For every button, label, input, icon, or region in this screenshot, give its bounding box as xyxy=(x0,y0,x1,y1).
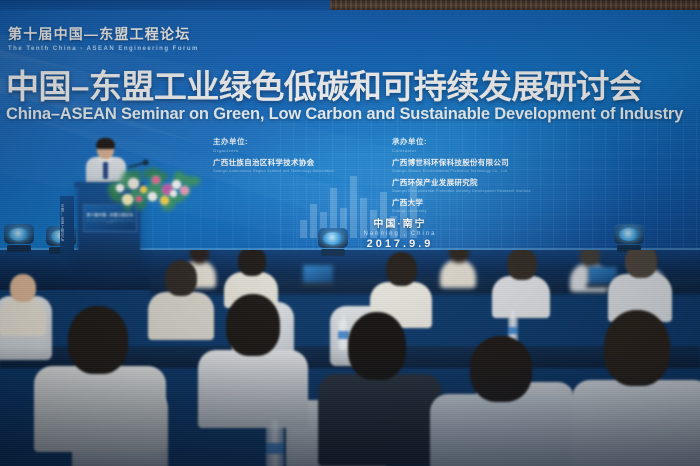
seminar-title-cn: 中国–东盟工业绿色低碳和可持续发展研讨会 xyxy=(6,70,700,103)
laptop xyxy=(300,264,334,288)
person-head xyxy=(348,312,406,380)
person-head xyxy=(580,250,600,267)
organizers-heading-cn: 主办单位: xyxy=(213,136,334,147)
seminar-title-en: China–ASEAN Seminar on Green, Low Carbon… xyxy=(6,105,700,124)
audience-person xyxy=(440,250,476,288)
co-organizer-name-en: Guangxi Environmental Protection Industr… xyxy=(392,189,531,193)
person-head xyxy=(507,250,537,280)
person-body xyxy=(492,276,550,318)
speaker-hair xyxy=(96,138,115,149)
place-date-block: 中国·南宁 Nanning , China 2017.9.9 xyxy=(345,215,455,250)
water-bottle xyxy=(266,426,284,466)
forum-title-cn: 第十届中国—东盟工程论坛 xyxy=(8,24,199,44)
co-organizer-name-en: Guangxi University xyxy=(392,209,531,213)
organizers-block: 主办单位: Organizers 广西壮族自治区科学技术协会 Guangxi A… xyxy=(213,136,334,173)
person-body xyxy=(198,350,308,428)
co-organizer-name-cn: 广西博世科环保科技股份有限公司 xyxy=(392,157,531,168)
forum-header: 第十届中国—东盟工程论坛 The Tenth China - ASEAN Eng… xyxy=(8,24,199,52)
person-head xyxy=(604,310,670,386)
person-body xyxy=(34,366,166,452)
person-head xyxy=(226,294,280,356)
side-banner-text: 中国—东盟工程论坛 xyxy=(60,204,65,242)
podium-flowers xyxy=(110,172,186,212)
co-organizer-item: 广西环保产业发展研究院 Guangxi Environmental Protec… xyxy=(392,177,531,193)
audience-person xyxy=(198,294,308,424)
podium-sign-en: The Tenth China - ASEAN Engineering Foru… xyxy=(84,220,136,224)
person-body xyxy=(572,380,700,466)
stage-light-icon xyxy=(614,222,644,252)
organizers-heading-en: Organizers xyxy=(213,148,334,153)
person-body xyxy=(440,259,476,288)
co-organizer-name-en: Guangxi Bossco Environmental Protection … xyxy=(392,169,531,173)
co-organizers-block: 承办单位: Contractor 广西博世科环保科技股份有限公司 Guangxi… xyxy=(392,136,531,213)
person-head xyxy=(386,252,417,286)
place-en: Nanning , China xyxy=(345,231,455,237)
person-body xyxy=(430,394,580,466)
person-head xyxy=(68,306,128,374)
podium-sign-cn: 第十届中国—东盟工程论坛 xyxy=(84,213,136,218)
person-head xyxy=(165,260,197,296)
person-head xyxy=(238,250,266,276)
conference-photo-scene: 第十届中国—东盟工程论坛 The Tenth China - ASEAN Eng… xyxy=(0,0,700,466)
audience-person xyxy=(430,336,580,466)
person-head xyxy=(625,250,657,278)
audience-person xyxy=(572,310,700,466)
audience-person xyxy=(318,312,442,462)
co-organizers-heading-cn: 承办单位: xyxy=(392,136,531,147)
co-organizer-item: 广西博世科环保科技股份有限公司 Guangxi Bossco Environme… xyxy=(392,157,531,173)
audience-area xyxy=(0,250,700,466)
laptop-keyboard xyxy=(300,283,334,287)
person-head xyxy=(10,274,36,302)
co-organizer-name-cn: 广西大学 xyxy=(392,197,531,208)
person-body xyxy=(318,374,442,466)
co-organizer-name-cn: 广西环保产业发展研究院 xyxy=(392,177,531,188)
person-head xyxy=(470,336,532,402)
co-organizer-item: 广西大学 Guangxi University xyxy=(392,197,531,213)
stage-light-icon xyxy=(4,222,34,252)
organizer-name-cn: 广西壮族自治区科学技术协会 xyxy=(213,157,334,168)
audience-person xyxy=(492,250,550,318)
place-cn: 中国·南宁 xyxy=(345,215,455,230)
audience-person xyxy=(34,306,166,446)
laptop-screen xyxy=(302,264,334,285)
organizer-item: 广西壮族自治区科学技术协会 Guangxi Autonomous Region … xyxy=(213,157,334,173)
forum-title-en: The Tenth China - ASEAN Engineering Foru… xyxy=(8,46,199,52)
co-organizers-heading-en: Contractor xyxy=(392,148,531,153)
organizer-name-en: Guangxi Autonomous Region Science and Te… xyxy=(213,169,334,173)
